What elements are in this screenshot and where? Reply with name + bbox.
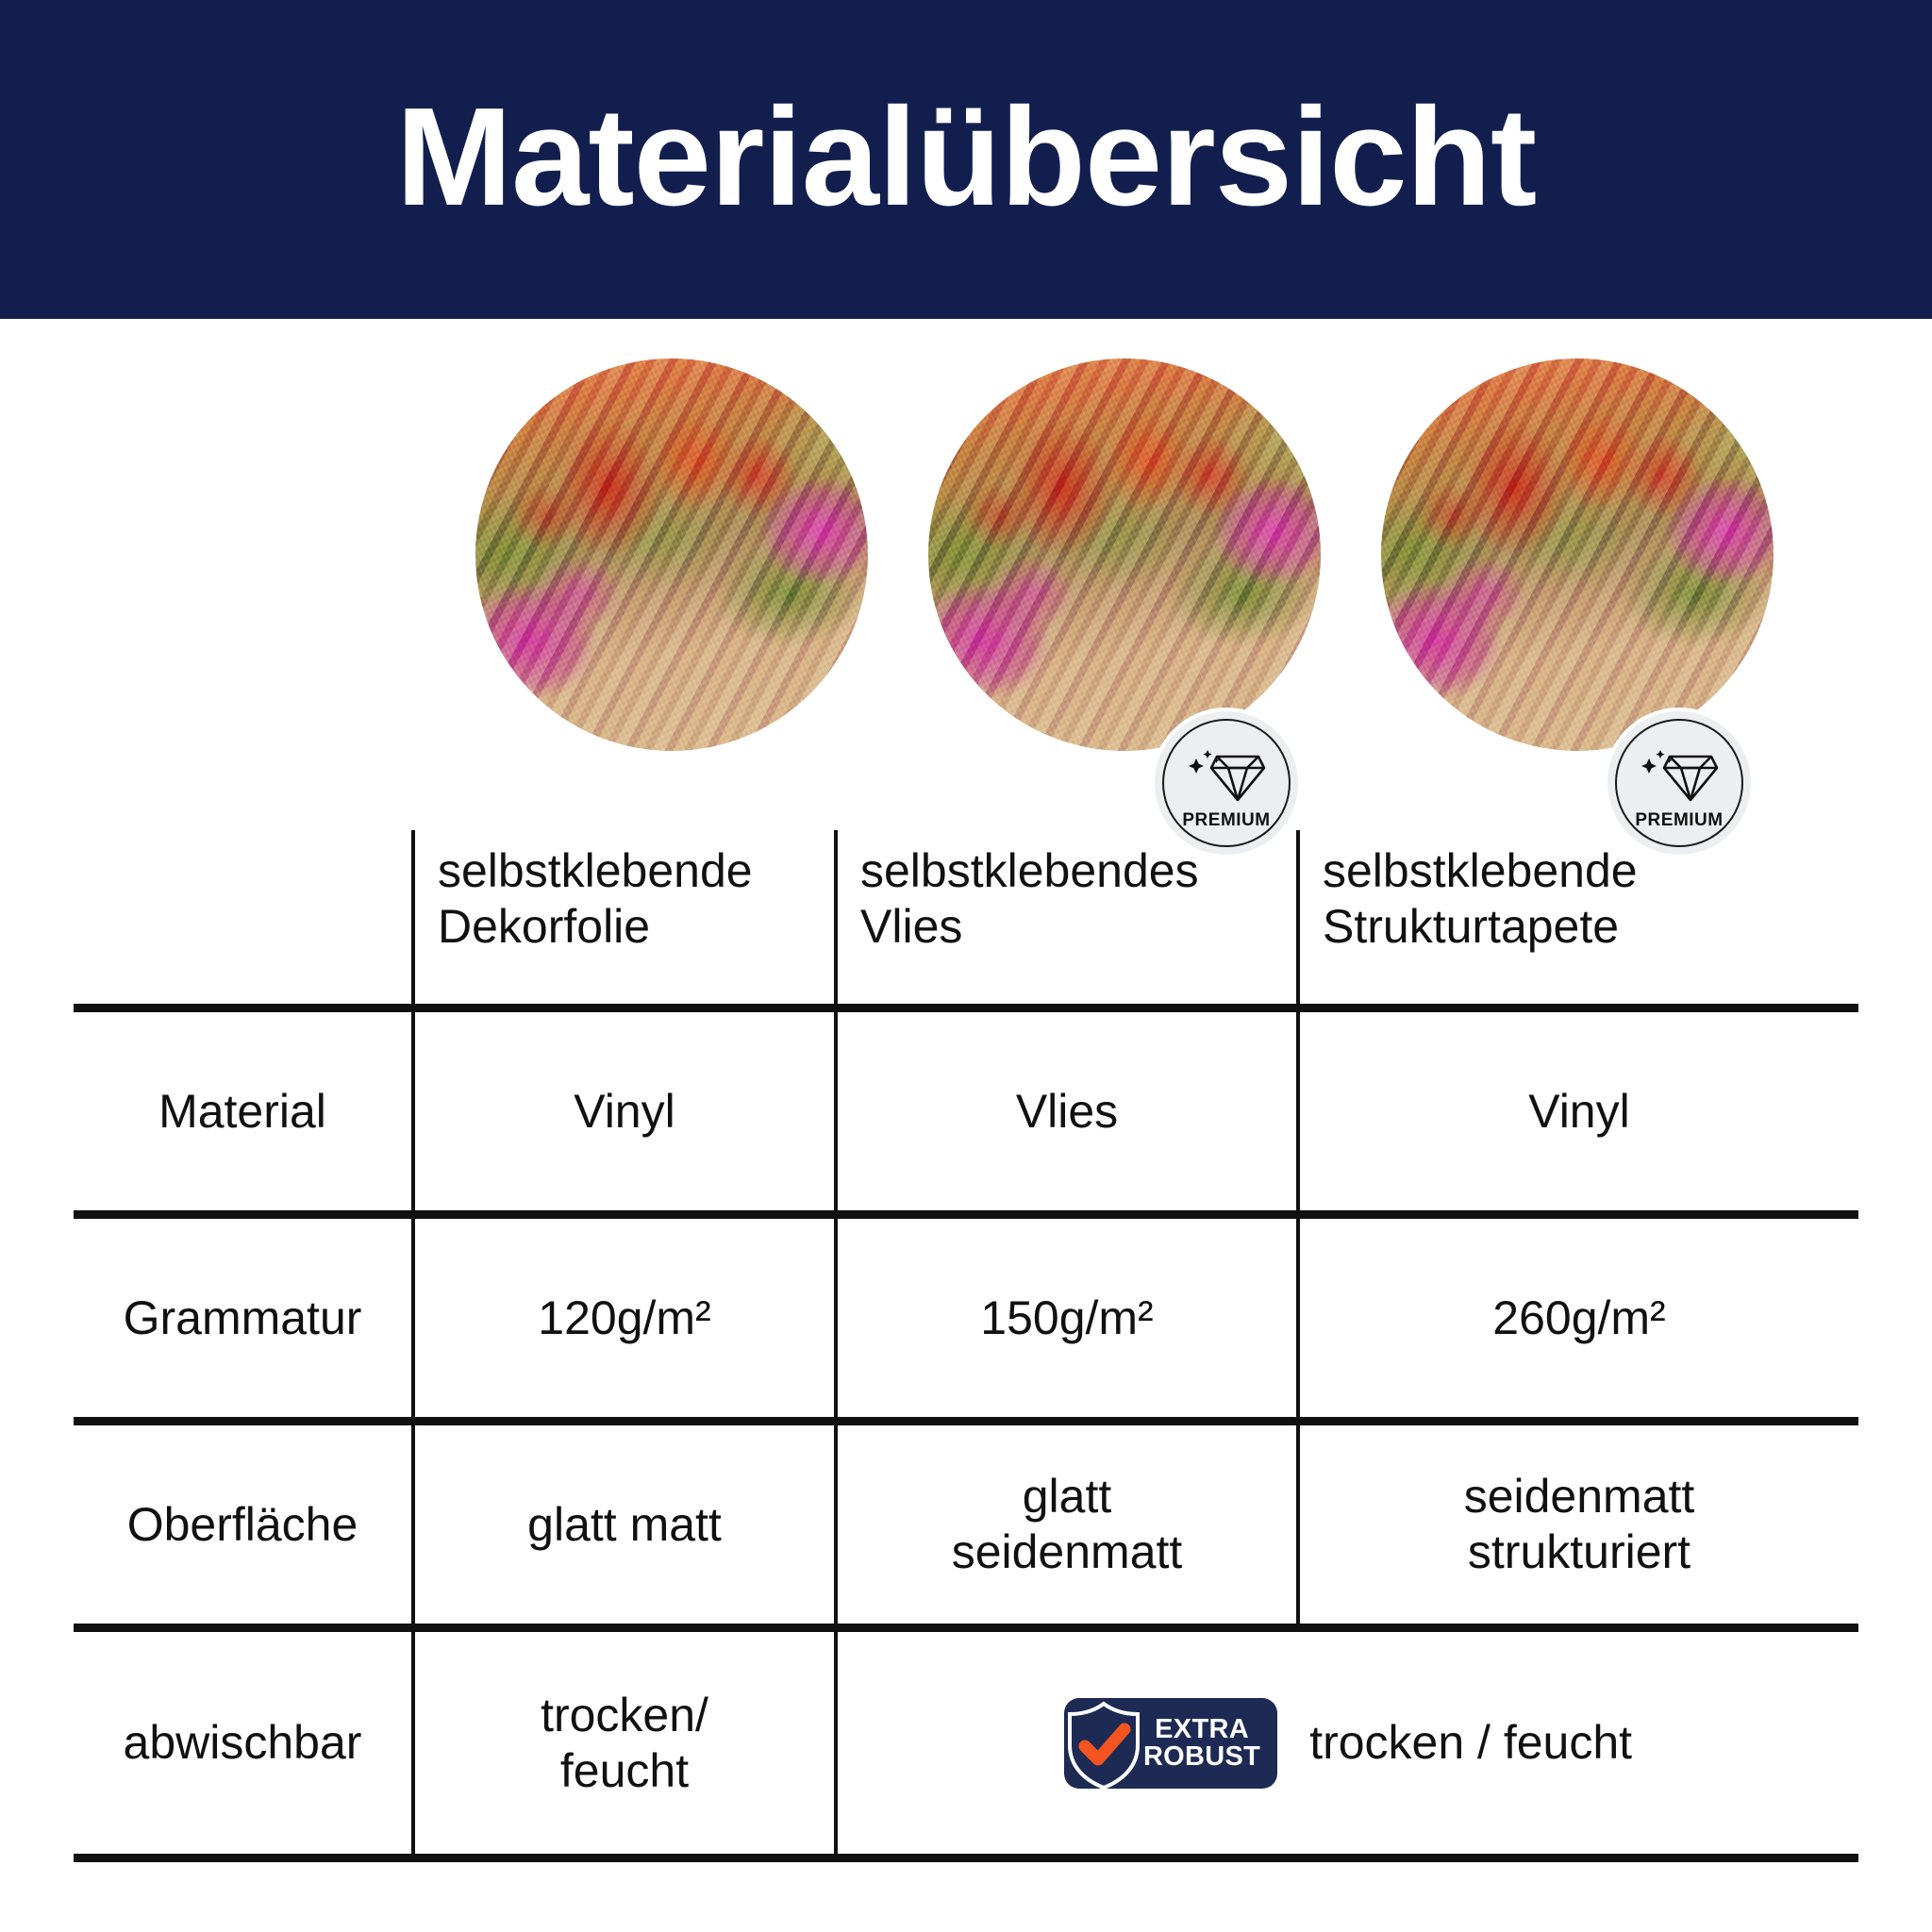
table-row-grammatur: Grammatur 120g/m² 150g/m² 260g/m²: [74, 1215, 1858, 1422]
column-header-line1: selbstklebende: [1323, 843, 1851, 899]
cell-line2: seidenmatt: [845, 1524, 1289, 1580]
swatch-vlies[interactable]: [928, 358, 1321, 751]
extra-robust-badge: EXTRA ROBUST: [1064, 1698, 1277, 1789]
badge-ring: [1615, 719, 1743, 847]
extra-robust-line2: ROBUST: [1143, 1743, 1260, 1771]
cell-oberflaeche-dekorfolie: glatt matt: [413, 1422, 836, 1628]
page-title: Materialübersicht: [396, 88, 1536, 227]
cell-abwischbar-dekorfolie: trocken/ feucht: [413, 1628, 836, 1858]
header-corner-cell: [74, 830, 413, 1008]
artwork-image-vlies: [928, 358, 1321, 751]
cell-abwischbar-merged-text: trocken / feucht: [1309, 1715, 1632, 1771]
artwork-image-strukturtapete: [1381, 358, 1774, 751]
cell-line1: 150g/m²: [845, 1291, 1289, 1346]
cell-oberflaeche-strukturtapete: seidenmatt strukturiert: [1298, 1422, 1858, 1628]
column-header-dekorfolie: selbstklebende Dekorfolie: [413, 830, 836, 1008]
cell-material-dekorfolie: Vinyl: [413, 1008, 836, 1215]
column-header-line2: Strukturtapete: [1323, 899, 1851, 955]
cell-grammatur-vlies: 150g/m²: [836, 1215, 1298, 1422]
cell-abwischbar-merged: EXTRA ROBUST trocken / feucht: [836, 1628, 1858, 1858]
cell-material-strukturtapete: Vinyl: [1298, 1008, 1858, 1215]
cell-line2: strukturiert: [1307, 1524, 1851, 1580]
cell-grammatur-dekorfolie: 120g/m²: [413, 1215, 836, 1422]
column-header-line2: Dekorfolie: [438, 899, 826, 955]
swatch-strukturtapete[interactable]: [1381, 358, 1774, 751]
bottom-rule-cell: [413, 1858, 836, 1863]
cell-line1: trocken/: [423, 1688, 826, 1743]
table-row-abwischbar: abwischbar trocken/ feucht: [74, 1628, 1858, 1858]
cell-line2: feucht: [423, 1743, 826, 1799]
artwork-image-dekorfolie: [475, 358, 868, 751]
material-spec-table-wrapper: selbstklebende Dekorfolie selbstklebende…: [74, 830, 1858, 1862]
shield-check-icon: [1060, 1700, 1147, 1803]
row-label-oberflaeche: Oberfläche: [74, 1422, 413, 1628]
cell-grammatur-strukturtapete: 260g/m²: [1298, 1215, 1858, 1422]
bottom-rule-cell: [836, 1858, 1298, 1863]
table-bottom-rule: [74, 1858, 1858, 1863]
header-banner: Materialübersicht: [0, 0, 1932, 319]
bottom-rule-cell: [74, 1858, 413, 1863]
material-spec-table: selbstklebende Dekorfolie selbstklebende…: [74, 830, 1858, 1862]
column-header-line2: Vlies: [860, 899, 1289, 955]
cell-line1: Vinyl: [423, 1084, 826, 1140]
robust-cell-inner: EXTRA ROBUST trocken / feucht: [845, 1698, 1851, 1789]
extra-robust-text: EXTRA ROBUST: [1143, 1716, 1260, 1771]
swatch-dekorfolie[interactable]: [475, 358, 868, 751]
row-label-grammatur: Grammatur: [74, 1215, 413, 1422]
column-header-vlies: selbstklebendes Vlies: [836, 830, 1298, 1008]
cell-line1: glatt: [845, 1469, 1289, 1524]
table-row-material: Material Vinyl Vlies Vinyl: [74, 1008, 1858, 1215]
column-header-line1: selbstklebende: [438, 843, 826, 899]
cell-line1: seidenmatt: [1307, 1469, 1851, 1524]
cell-line1: Vlies: [845, 1084, 1289, 1140]
cell-oberflaeche-vlies: glatt seidenmatt: [836, 1422, 1298, 1628]
bottom-rule-cell: [1298, 1858, 1858, 1863]
column-header-strukturtapete: selbstklebende Strukturtapete: [1298, 830, 1858, 1008]
badge-ring: [1162, 719, 1291, 847]
extra-robust-line1: EXTRA: [1143, 1716, 1260, 1743]
cell-line1: 120g/m²: [423, 1291, 826, 1346]
cell-material-vlies: Vlies: [836, 1008, 1298, 1215]
premium-badge-vlies: PREMIUM: [1153, 709, 1300, 857]
material-overview-page: Materialübersicht: [0, 0, 1932, 1932]
premium-badge-strukturtapete: PREMIUM: [1606, 709, 1753, 857]
cell-line1: Vinyl: [1307, 1084, 1851, 1140]
cell-line1: glatt matt: [423, 1497, 826, 1553]
cell-line1: 260g/m²: [1307, 1291, 1851, 1346]
table-header-row: selbstklebende Dekorfolie selbstklebende…: [74, 830, 1858, 1008]
swatch-row: PREMIUM PREMIUM: [0, 358, 1932, 755]
table-row-oberflaeche: Oberfläche glatt matt glatt seidenmatt s…: [74, 1422, 1858, 1628]
row-label-abwischbar: abwischbar: [74, 1628, 413, 1858]
row-label-material: Material: [74, 1008, 413, 1215]
